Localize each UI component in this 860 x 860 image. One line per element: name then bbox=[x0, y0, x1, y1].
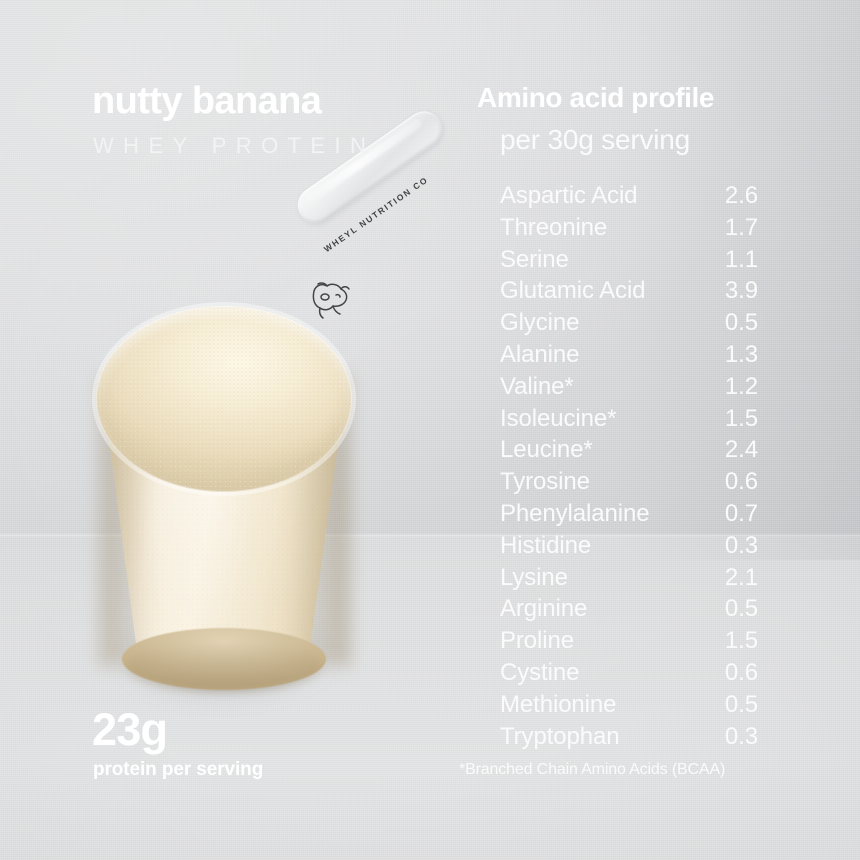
amino-acid-value: 2.4 bbox=[725, 434, 758, 465]
protein-amount-label: protein per serving bbox=[93, 760, 263, 779]
amino-acid-row: Alanine1.3 bbox=[500, 339, 758, 371]
amino-acid-name: Alanine bbox=[500, 339, 579, 370]
amino-acid-name: Tryptophan bbox=[500, 721, 620, 752]
amino-acid-row: Cystine0.6 bbox=[500, 657, 758, 689]
scoop-handle: WHEYL NUTRITION CO bbox=[300, 194, 478, 344]
amino-acid-row: Leucine*2.4 bbox=[500, 434, 758, 466]
amino-acid-row: Isoleucine*1.5 bbox=[500, 403, 758, 435]
amino-acid-name: Threonine bbox=[500, 212, 607, 243]
amino-acid-row: Methionine0.5 bbox=[500, 689, 758, 721]
amino-acid-row: Valine*1.2 bbox=[500, 371, 758, 403]
amino-acid-value: 1.1 bbox=[725, 244, 758, 275]
amino-panel-subtitle: per 30g serving bbox=[500, 126, 690, 154]
amino-acid-name: Cystine bbox=[500, 657, 579, 688]
amino-acid-name: Leucine* bbox=[500, 434, 593, 465]
amino-acid-value: 2.1 bbox=[725, 562, 758, 593]
product-image: WHEYL NUTRITION CO bbox=[0, 0, 860, 860]
flavor-name: nutty banana bbox=[92, 82, 321, 120]
amino-acid-name: Methionine bbox=[500, 689, 616, 720]
amino-acid-value: 0.7 bbox=[725, 498, 758, 529]
amino-acid-row: Arginine0.5 bbox=[500, 593, 758, 625]
amino-acid-name: Isoleucine* bbox=[500, 403, 616, 434]
amino-acid-value: 3.9 bbox=[725, 275, 758, 306]
product-category: WHEY PROTEIN bbox=[93, 135, 375, 157]
protein-powder-mound bbox=[96, 306, 352, 492]
amino-acid-name: Proline bbox=[500, 625, 574, 656]
amino-acid-row: Histidine0.3 bbox=[500, 530, 758, 562]
amino-acid-value: 0.5 bbox=[725, 689, 758, 720]
amino-acid-row: Lysine2.1 bbox=[500, 562, 758, 594]
amino-panel-title: Amino acid profile bbox=[477, 84, 714, 112]
amino-acid-row: Phenylalanine0.7 bbox=[500, 498, 758, 530]
bcaa-footnote: *Branched Chain Amino Acids (BCAA) bbox=[459, 762, 725, 778]
amino-acid-value: 1.5 bbox=[725, 625, 758, 656]
amino-acid-value: 1.7 bbox=[725, 212, 758, 243]
scoop-cup-bottom-shade bbox=[126, 640, 322, 692]
amino-acid-row: Glutamic Acid3.9 bbox=[500, 275, 758, 307]
powder-rim bbox=[92, 302, 356, 496]
amino-acid-name: Lysine bbox=[500, 562, 568, 593]
amino-acid-row: Aspartic Acid2.6 bbox=[500, 180, 758, 212]
amino-acid-row: Tryptophan0.3 bbox=[500, 721, 758, 753]
amino-acid-row: Threonine1.7 bbox=[500, 212, 758, 244]
amino-acid-value: 2.6 bbox=[725, 180, 758, 211]
amino-acid-value: 0.3 bbox=[725, 721, 758, 752]
amino-acid-value: 0.6 bbox=[725, 657, 758, 688]
amino-acid-name: Glutamic Acid bbox=[500, 275, 645, 306]
amino-acid-name: Glycine bbox=[500, 307, 579, 338]
amino-acid-value: 0.3 bbox=[725, 530, 758, 561]
amino-acid-name: Aspartic Acid bbox=[500, 180, 637, 211]
amino-acid-name: Tyrosine bbox=[500, 466, 590, 497]
amino-acid-value: 0.5 bbox=[725, 593, 758, 624]
amino-acid-value: 1.5 bbox=[725, 403, 758, 434]
amino-acid-value: 1.2 bbox=[725, 371, 758, 402]
cow-logo bbox=[306, 278, 352, 320]
amino-acid-row: Tyrosine0.6 bbox=[500, 466, 758, 498]
amino-acid-row: Serine1.1 bbox=[500, 244, 758, 276]
amino-acid-value: 1.3 bbox=[725, 339, 758, 370]
amino-acid-name: Serine bbox=[500, 244, 569, 275]
amino-acid-row: Glycine0.5 bbox=[500, 307, 758, 339]
amino-acid-value: 0.6 bbox=[725, 466, 758, 497]
amino-acid-value: 0.5 bbox=[725, 307, 758, 338]
amino-acid-name: Valine* bbox=[500, 371, 574, 402]
amino-acid-name: Arginine bbox=[500, 593, 587, 624]
amino-acid-name: Phenylalanine bbox=[500, 498, 650, 529]
protein-amount: 23g bbox=[92, 707, 167, 752]
amino-acid-row: Proline1.5 bbox=[500, 625, 758, 657]
amino-acid-name: Histidine bbox=[500, 530, 591, 561]
amino-acid-table: Aspartic Acid2.6Threonine1.7Serine1.1Glu… bbox=[500, 180, 758, 752]
